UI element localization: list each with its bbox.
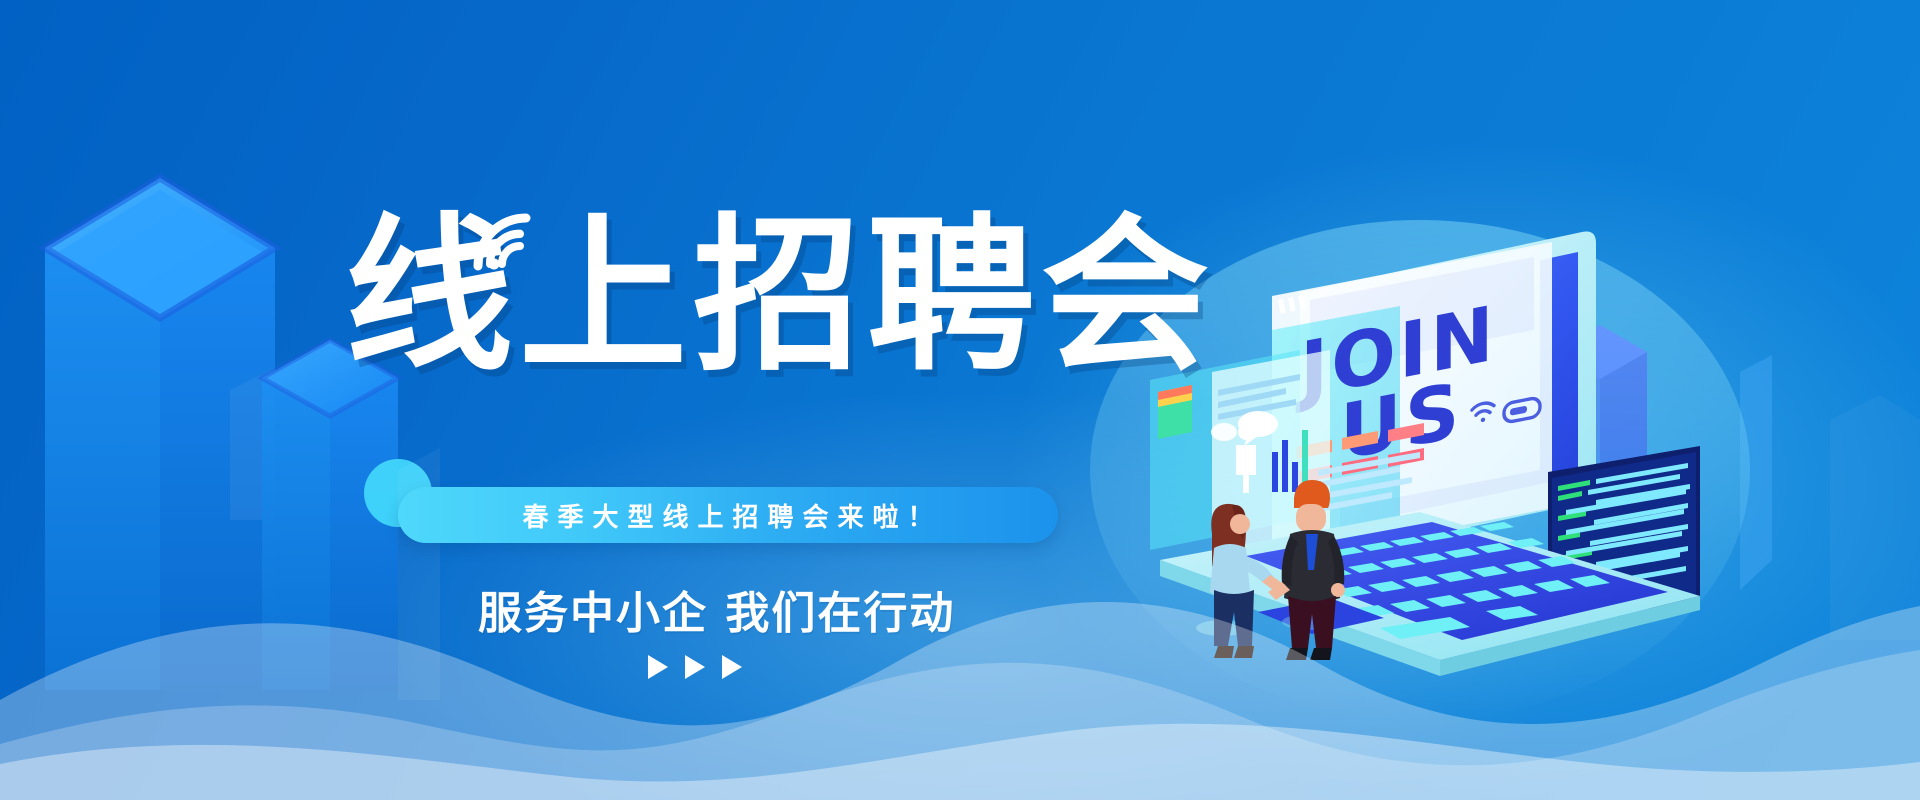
bottom-waves-layer	[0, 0, 1920, 800]
recruitment-banner: JOIN US	[0, 0, 1920, 800]
